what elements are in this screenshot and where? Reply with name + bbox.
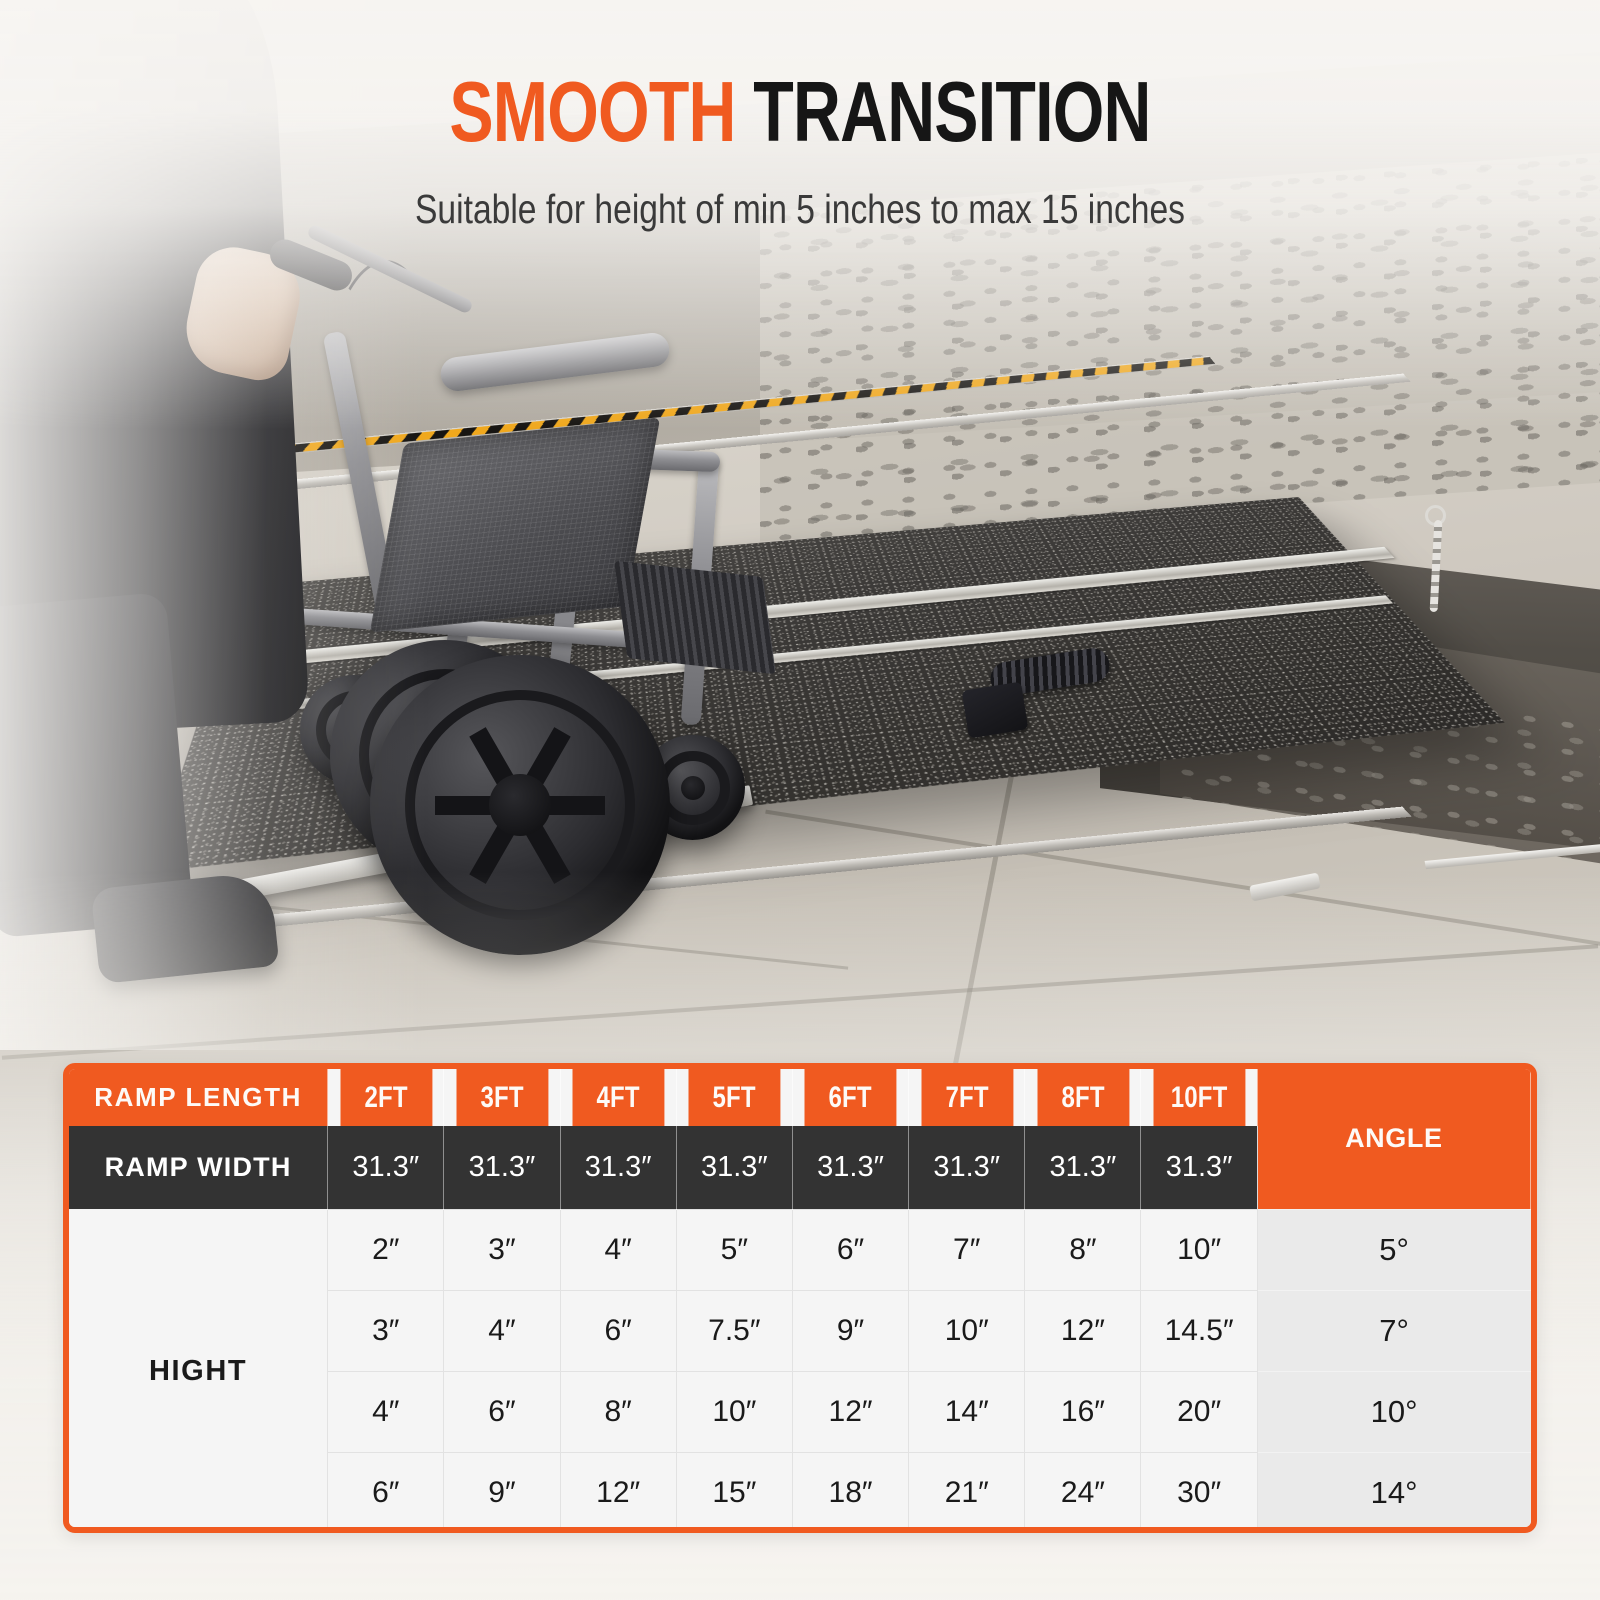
page-title: SMOOTH TRANSITION bbox=[176, 70, 1424, 155]
height-cell: 8″ bbox=[560, 1371, 676, 1452]
height-cell: 10″ bbox=[909, 1290, 1025, 1371]
height-cell: 4″ bbox=[444, 1290, 560, 1371]
height-cell: 7.5″ bbox=[676, 1290, 792, 1371]
height-cell: 12″ bbox=[560, 1452, 676, 1533]
page-title-rest: TRANSITION bbox=[736, 65, 1151, 160]
height-cell: 20″ bbox=[1141, 1371, 1257, 1452]
height-cell: 3″ bbox=[444, 1209, 560, 1290]
height-cell: 6″ bbox=[444, 1371, 560, 1452]
height-cell: 9″ bbox=[444, 1452, 560, 1533]
width-value-7ft: 31.3″ bbox=[909, 1126, 1025, 1209]
table-header-row-length: RAMP LENGTH 2FT 3FT 4FT 5FT 6FT 7FT 8FT … bbox=[69, 1069, 1531, 1126]
height-cell: 14″ bbox=[909, 1371, 1025, 1452]
height-cell: 3″ bbox=[328, 1290, 444, 1371]
height-cell: 2″ bbox=[328, 1209, 444, 1290]
header-length-8ft: 8FT bbox=[1036, 1069, 1129, 1126]
angle-cell: 14° bbox=[1257, 1452, 1530, 1533]
height-cell: 10″ bbox=[1141, 1209, 1257, 1290]
height-cell: 4″ bbox=[328, 1371, 444, 1452]
header-ramp-width: RAMP WIDTH bbox=[69, 1126, 328, 1209]
page-title-highlight: SMOOTH bbox=[449, 65, 735, 160]
table-row: HIGHT 2″ 3″ 4″ 5″ 6″ 7″ 8″ 10″ 5° bbox=[69, 1209, 1531, 1290]
header-length-10ft: 10FT bbox=[1153, 1069, 1246, 1126]
width-value-4ft: 31.3″ bbox=[560, 1126, 676, 1209]
page-subtitle: Suitable for height of min 5 inches to m… bbox=[144, 186, 1456, 233]
width-value-3ft: 31.3″ bbox=[444, 1126, 560, 1209]
height-cell: 24″ bbox=[1025, 1452, 1141, 1533]
height-cell: 8″ bbox=[1025, 1209, 1141, 1290]
header-hight: HIGHT bbox=[69, 1209, 328, 1533]
height-cell: 4″ bbox=[560, 1209, 676, 1290]
wheelchair-footplate bbox=[614, 561, 776, 675]
height-cell: 21″ bbox=[909, 1452, 1025, 1533]
header-ramp-length: RAMP LENGTH bbox=[69, 1069, 328, 1126]
header-length-2ft: 2FT bbox=[339, 1069, 432, 1126]
width-value-6ft: 31.3″ bbox=[792, 1126, 908, 1209]
height-cell: 16″ bbox=[1025, 1371, 1141, 1452]
height-cell: 12″ bbox=[792, 1371, 908, 1452]
height-cell: 30″ bbox=[1141, 1452, 1257, 1533]
height-cell: 18″ bbox=[792, 1452, 908, 1533]
ramp-spec-table: RAMP LENGTH 2FT 3FT 4FT 5FT 6FT 7FT 8FT … bbox=[69, 1069, 1531, 1533]
height-cell: 7″ bbox=[909, 1209, 1025, 1290]
angle-cell: 10° bbox=[1257, 1371, 1530, 1452]
height-cell: 12″ bbox=[1025, 1290, 1141, 1371]
header-length-7ft: 7FT bbox=[920, 1069, 1013, 1126]
height-cell: 5″ bbox=[676, 1209, 792, 1290]
height-cell: 15″ bbox=[676, 1452, 792, 1533]
header-length-4ft: 4FT bbox=[572, 1069, 665, 1126]
header-angle: ANGLE bbox=[1257, 1069, 1530, 1209]
height-cell: 10″ bbox=[676, 1371, 792, 1452]
specification-table: RAMP LENGTH 2FT 3FT 4FT 5FT 6FT 7FT 8FT … bbox=[63, 1063, 1537, 1533]
angle-cell: 5° bbox=[1257, 1209, 1530, 1290]
header-length-6ft: 6FT bbox=[804, 1069, 897, 1126]
height-cell: 6″ bbox=[792, 1209, 908, 1290]
height-cell: 14.5″ bbox=[1141, 1290, 1257, 1371]
height-cell: 6″ bbox=[560, 1290, 676, 1371]
width-value-8ft: 31.3″ bbox=[1025, 1126, 1141, 1209]
width-value-10ft: 31.3″ bbox=[1141, 1126, 1257, 1209]
width-value-2ft: 31.3″ bbox=[328, 1126, 444, 1209]
angle-cell: 7° bbox=[1257, 1290, 1530, 1371]
header-length-5ft: 5FT bbox=[688, 1069, 781, 1126]
header-length-3ft: 3FT bbox=[455, 1069, 548, 1126]
width-value-5ft: 31.3″ bbox=[676, 1126, 792, 1209]
ramp-handle-plate bbox=[962, 682, 1029, 739]
height-cell: 6″ bbox=[328, 1452, 444, 1533]
height-cell: 9″ bbox=[792, 1290, 908, 1371]
